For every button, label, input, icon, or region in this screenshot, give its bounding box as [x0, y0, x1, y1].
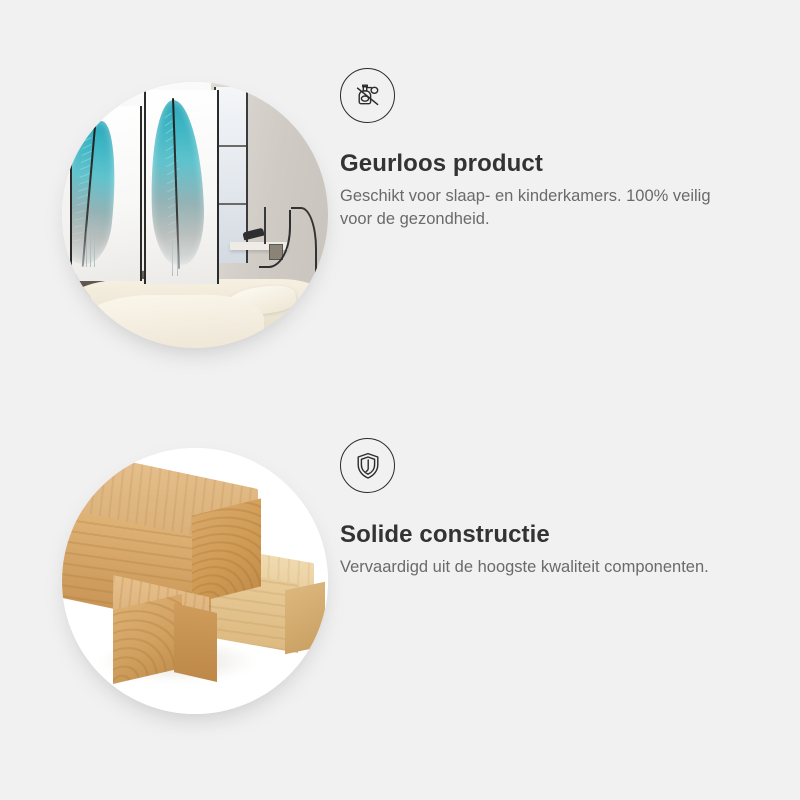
feature-description: Geschikt voor slaap- en kinderkamers. 10… [340, 185, 732, 232]
feather-wisp [90, 222, 91, 268]
feather-barb [168, 229, 176, 233]
feature-media-1 [0, 60, 340, 380]
feather-wisp [94, 229, 95, 268]
feature-text-1: Geurloos product Geschikt voor slaap- en… [340, 60, 800, 232]
feather-barb [75, 217, 85, 221]
lamp-stem [264, 207, 266, 244]
wood-blocks-scene [62, 448, 328, 714]
feature-text-2: Solide constructie Vervaardigd uit de ho… [340, 430, 800, 579]
wood-block-front-side [174, 603, 217, 682]
feature-title: Solide constructie [340, 521, 760, 549]
feather-wisp [177, 241, 178, 276]
feather-barb [164, 120, 172, 126]
feature-media-2 [0, 430, 340, 730]
wood-beam-main-end-grain [192, 498, 261, 603]
feather-barb [74, 224, 83, 227]
feather-graphic [70, 118, 123, 267]
feather-barb [168, 220, 177, 224]
feather-barb [74, 232, 83, 235]
feature-block-odorless: Geurloos product Geschikt voor slaap- en… [0, 60, 800, 380]
feather-barb [164, 112, 171, 118]
feather-wisp [172, 234, 173, 277]
bedroom-scene [62, 82, 328, 348]
bed-duvet [78, 295, 264, 348]
feather-barb [76, 209, 87, 213]
feather-barb [164, 128, 173, 134]
feather-barb [73, 239, 81, 242]
feather-wisp [86, 215, 87, 268]
wooden-blocks-photo [62, 448, 328, 714]
feature-title: Geurloos product [340, 150, 760, 178]
feature-block-solid-construction: Solide constructie Vervaardigd uit de ho… [0, 430, 800, 730]
feather-wall-art-bedroom-photo [62, 82, 328, 348]
feature-description: Vervaardigd uit de hoogste kwaliteit com… [340, 556, 732, 579]
product-feature-page: { "page": { "background_color": "#f1f1f1… [0, 0, 800, 800]
no-fragrance-perfume-icon [340, 68, 395, 123]
art-panel-middle [144, 90, 218, 284]
shield-icon [340, 438, 395, 493]
art-panel-left [70, 106, 142, 282]
feather-barb [83, 144, 92, 149]
wood-beam-pale-end [285, 582, 325, 654]
feather-barb [83, 137, 92, 142]
feather-barb [84, 130, 92, 135]
